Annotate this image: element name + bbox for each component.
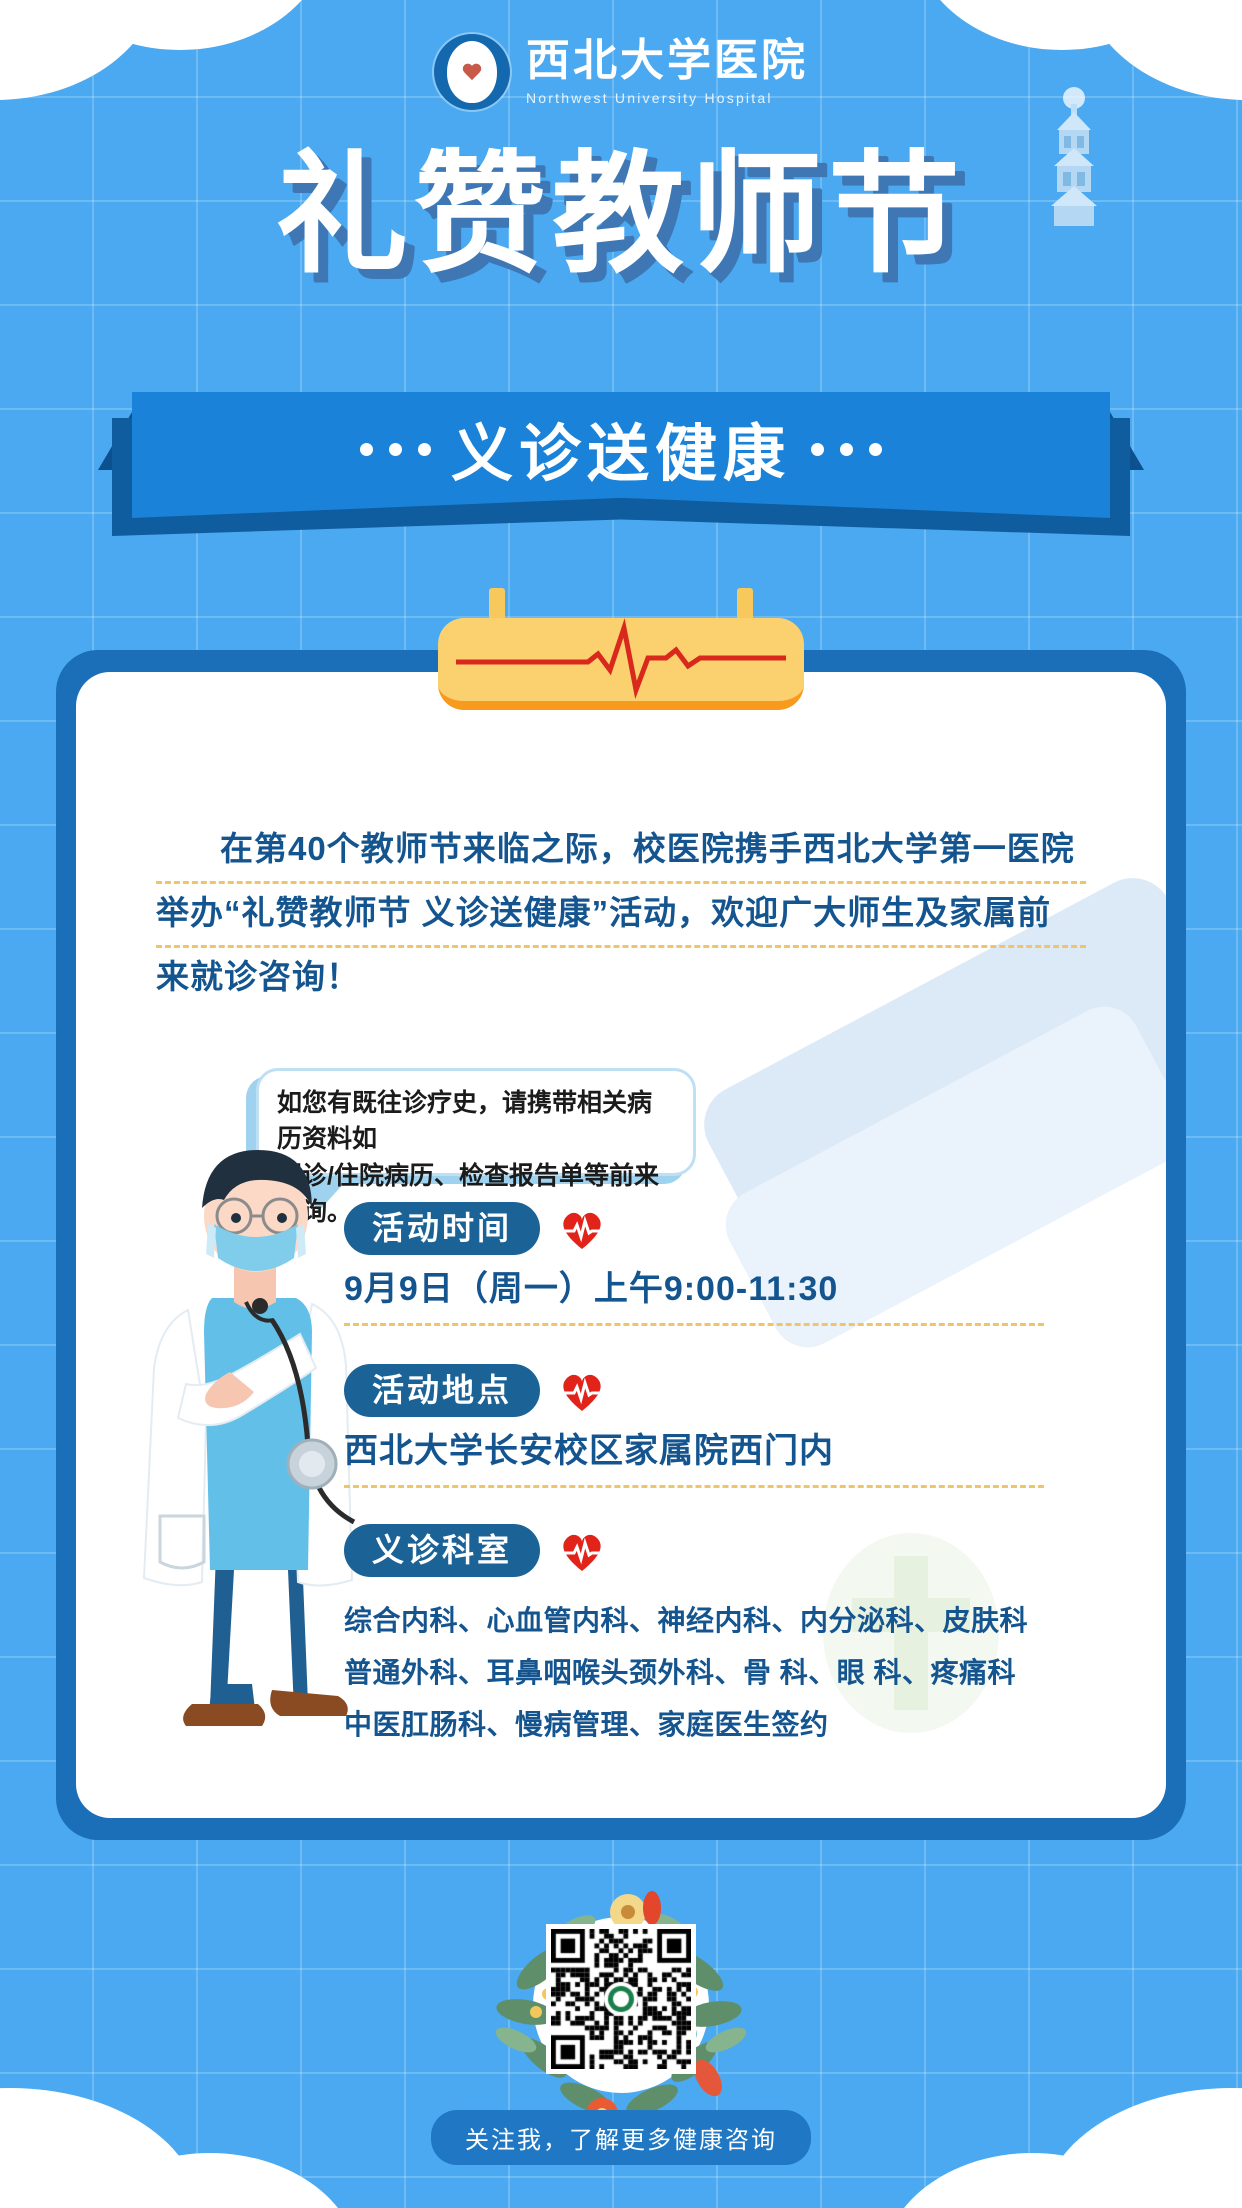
heart-pulse-icon [558,1369,606,1413]
department-line: 普通外科、耳鼻咽喉头颈外科、骨 科、眼 科、疼痛科 [344,1647,1044,1699]
qr-code-icon[interactable] [546,1924,696,2074]
heart-pulse-icon [558,1207,606,1251]
activity-place-value: 西北大学长安校区家属院西门内 [344,1433,1044,1487]
section-label-pill: 活动地点 [344,1364,540,1417]
page-title: 礼赞教师节 [0,140,1242,292]
hospital-name-en: Northwest University Hospital [526,91,808,105]
section-label-pill: 活动时间 [344,1202,540,1255]
content-card: 在第40个教师节来临之际，校医院携手西北大学第一医院 举办“礼赞教师节 义诊送健… [76,672,1166,1818]
intro-line: 来就诊咨询！ [156,948,1086,1009]
activity-time-value: 9月9日（周一）上午9:00-11:30 [344,1271,1044,1325]
follow-badge[interactable]: 关注我，了解更多健康咨询 [431,2110,811,2165]
ribbon-subtitle: 义诊送健康 [451,403,791,493]
hospital-name-cn: 西北大学医院 [526,39,808,83]
ecg-heartbeat-icon [438,618,804,710]
section-activity-place: 活动地点 西北大学长安校区家属院西门内 [344,1364,1044,1488]
intro-line: 在第40个教师节来临之际，校医院携手西北大学第一医院 [156,820,1086,884]
section-departments: 义诊科室 综合内科、心血管内科、神经内科、内分泌科、皮肤科 普通外科、耳鼻咽喉头… [344,1524,1044,1751]
poster-root: 西北大学医院 Northwest University Hospital 礼赞教… [0,0,1242,2208]
section-activity-time: 活动时间 9月9日（周一）上午9:00-11:30 [344,1202,1044,1326]
hospital-brand: 西北大学医院 Northwest University Hospital [526,39,808,105]
hospital-emblem-icon [434,34,510,110]
dot-icon-group-left [360,443,431,456]
section-header: 义诊科室 [344,1524,1044,1577]
dot-icon-group-right [811,443,882,456]
poster-header: 西北大学医院 Northwest University Hospital [0,34,1242,110]
section-header: 活动时间 [344,1202,1044,1255]
intro-line: 举办“礼赞教师节 义诊送健康”活动，欢迎广大师生及家属前 [156,884,1086,948]
department-list: 综合内科、心血管内科、神经内科、内分泌科、皮肤科 普通外科、耳鼻咽喉头颈外科、骨… [344,1595,1044,1750]
section-label-pill: 义诊科室 [344,1524,540,1577]
department-line: 中医肛肠科、慢病管理、家庭医生签约 [344,1699,1044,1751]
intro-paragraph: 在第40个教师节来临之际，校医院携手西北大学第一医院 举办“礼赞教师节 义诊送健… [156,820,1086,1009]
qr-code-block[interactable] [456,1872,786,2142]
heart-pulse-icon [558,1529,606,1573]
department-line: 综合内科、心血管内科、神经内科、内分泌科、皮肤科 [344,1595,1044,1647]
ribbon-banner: 义诊送健康 [0,392,1242,542]
section-header: 活动地点 [344,1364,1044,1417]
